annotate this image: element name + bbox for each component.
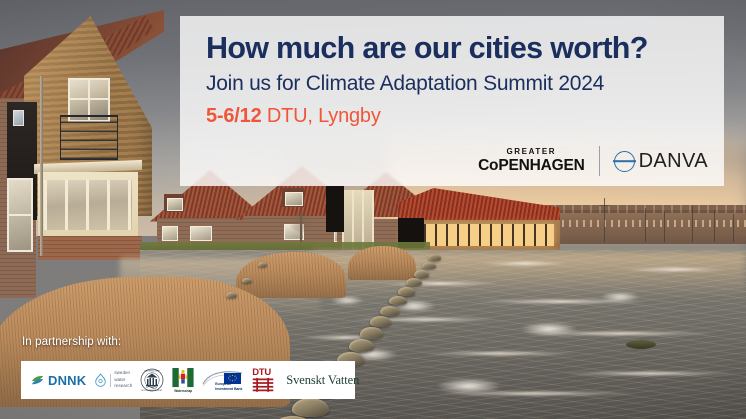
- dtu-bars-icon: [252, 377, 274, 392]
- eib-icon: European Investment Bank: [202, 369, 244, 391]
- downpipe: [40, 76, 43, 256]
- svg-text:NOORDERZIJLVEST: NOORDERZIJLVEST: [142, 390, 164, 392]
- sandbag: [428, 254, 441, 261]
- page-title: How much are our cities worth?: [206, 32, 706, 65]
- sandbag: [406, 278, 422, 286]
- dnnk-wordmark: DNNK: [48, 373, 86, 388]
- logo-rule: [110, 374, 111, 387]
- sandbag: [370, 316, 391, 327]
- partner-logo-dnnk: DNNK: [30, 373, 86, 388]
- wave: [480, 262, 570, 265]
- wave-foam: [600, 292, 640, 302]
- water-drop-pin-icon: [94, 373, 107, 388]
- dark-panel: [326, 186, 344, 232]
- wave: [620, 268, 730, 271]
- eib-line2: Investment Bank: [215, 387, 242, 391]
- window: [190, 226, 212, 241]
- partner-logo-svenskt-vatten: Svenskt Vatten: [286, 373, 359, 388]
- wave: [560, 372, 740, 375]
- waterschap-shield-icon: Waterschap: [172, 368, 194, 392]
- sunroom-glazing: [44, 180, 132, 230]
- greater-copenhagen-line1: GREATER: [478, 148, 585, 156]
- partner-logo-dtu: DTU: [252, 368, 274, 393]
- bare-tree-canopy: [288, 210, 314, 232]
- greater-copenhagen-logo: GREATER CoPENHAGEN: [478, 148, 585, 174]
- partner-logo-waterboard-crest: WATERSCHAP NOORDERZIJLVEST: [140, 368, 164, 392]
- svenskt-vatten-wordmark: Svenskt Vatten: [286, 373, 359, 388]
- sandbag: [360, 327, 383, 339]
- sweden-water-research-wordmark: sweden water research: [114, 370, 132, 389]
- partner-logo-waterschap-shield: Waterschap: [172, 368, 194, 392]
- promo-banner: How much are our cities worth? Join us f…: [0, 0, 746, 419]
- date-and-venue: 5-6/12 DTU, Lyngby: [206, 105, 706, 128]
- boat-mast: [733, 214, 734, 242]
- boat-mast: [714, 210, 715, 242]
- overlay-content: How much are our cities worth? Join us f…: [206, 32, 706, 128]
- small-window: [13, 110, 24, 126]
- sandbag: [258, 262, 267, 267]
- dormer-window: [282, 188, 304, 207]
- dnnk-leaf-icon: [30, 373, 45, 388]
- boat-mast: [664, 212, 665, 242]
- boat-mast: [645, 208, 646, 242]
- event-venue: DTU, Lyngby: [262, 105, 381, 127]
- waterboard-crest-icon: WATERSCHAP NOORDERZIJLVEST: [140, 368, 164, 392]
- partner-logo-sweden-water-research: sweden water research: [94, 370, 132, 389]
- swr-line1: sweden: [114, 370, 132, 376]
- logo-divider: [599, 146, 600, 176]
- svg-text:WATERSCHAP: WATERSCHAP: [145, 369, 161, 372]
- subtitle: Join us for Climate Adaptation Summit 20…: [206, 72, 706, 95]
- submerged-debris: [626, 340, 656, 349]
- boat-mast: [692, 206, 693, 242]
- eib-wordmark: European Investment Bank: [215, 382, 242, 391]
- sandbag: [226, 292, 237, 298]
- sandbag: [389, 296, 407, 305]
- greater-copenhagen-line2: CoPENHAGEN: [478, 158, 585, 174]
- sandbag: [380, 306, 399, 316]
- waterschap-wordmark: Waterschap: [172, 389, 194, 393]
- partners-label: In partnership with:: [22, 336, 121, 348]
- tall-window: [7, 178, 33, 252]
- swr-line3: research: [114, 383, 132, 389]
- sandbag: [414, 270, 429, 278]
- partner-logo-strip: DNNK sweden water research: [21, 361, 355, 399]
- partner-logo-eib: European Investment Bank: [202, 369, 244, 391]
- headline-overlay-panel: How much are our cities worth? Join us f…: [180, 16, 724, 186]
- sandbag: [292, 398, 329, 417]
- danva-wordmark: DANVA: [639, 150, 708, 173]
- balcony-railing: [60, 115, 118, 160]
- boat-mast: [604, 198, 605, 242]
- sandbag: [242, 278, 252, 283]
- sandbag: [422, 262, 436, 269]
- sandbag: [398, 287, 415, 296]
- base-brickwork: [38, 236, 142, 260]
- organiser-logo-lockup: GREATER CoPENHAGEN DANVA: [478, 146, 708, 176]
- danva-circle-icon: [614, 151, 635, 172]
- sandbag: [349, 339, 374, 352]
- dtu-wordmark: DTU: [252, 368, 271, 378]
- danva-logo: DANVA: [614, 150, 708, 173]
- event-date: 5-6/12: [206, 105, 262, 127]
- wave-foam: [520, 322, 578, 336]
